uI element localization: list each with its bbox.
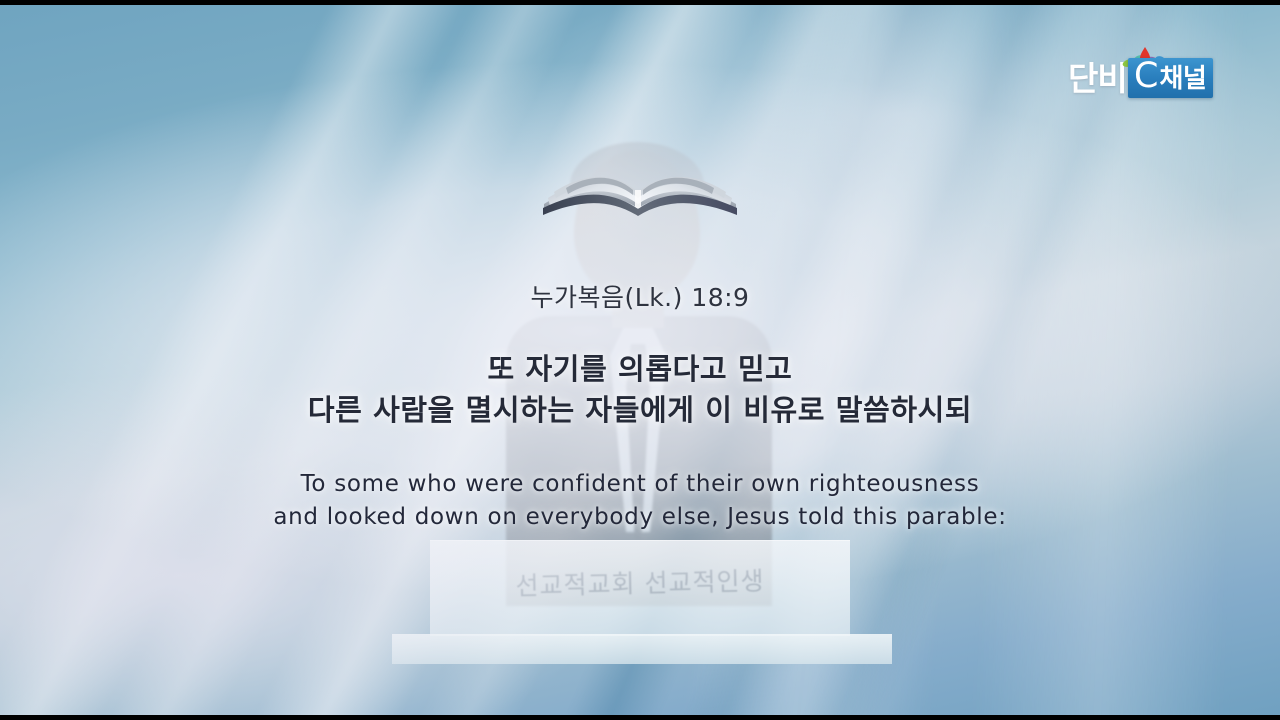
letterbox-bar-bottom — [0, 715, 1280, 720]
channel-logo: 단비 C 채널 — [1068, 48, 1226, 106]
verse-english-line-1: To some who were confident of their own … — [0, 468, 1280, 502]
letterbox-bar-top — [0, 0, 1280, 5]
verse-korean-line-2: 다른 사람을 멸시하는 자들에게 이 비유로 말씀하시되 — [0, 390, 1280, 431]
channel-brand-text: 단비 — [1068, 62, 1127, 95]
verse-overlay: 누가복음(Lk.) 18:9 또 자기를 의롭다고 믿고 다른 사람을 멸시하는… — [0, 282, 1280, 535]
verse-english: To some who were confident of their own … — [0, 468, 1280, 536]
open-bible-icon — [540, 152, 740, 224]
verse-korean: 또 자기를 의롭다고 믿고 다른 사람을 멸시하는 자들에게 이 비유로 말씀하… — [0, 349, 1280, 431]
channel-word: 채널 — [1159, 66, 1206, 92]
verse-reference: 누가복음(Lk.) 18:9 — [0, 282, 1280, 313]
verse-english-line-2: and looked down on everybody else, Jesus… — [0, 501, 1280, 535]
channel-logo-badge: C 채널 — [1128, 58, 1213, 98]
broadcast-frame: 선교적교회 선교적인생 — [0, 0, 1280, 720]
channel-letter: C — [1134, 59, 1158, 94]
verse-korean-line-1: 또 자기를 의롭다고 믿고 — [0, 349, 1280, 390]
